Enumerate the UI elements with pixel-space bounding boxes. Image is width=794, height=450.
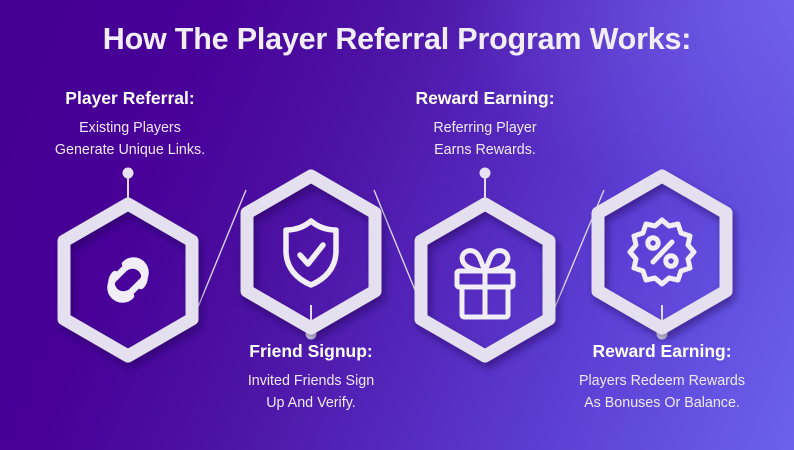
- step-3-hexagon[interactable]: [409, 196, 561, 364]
- step-2-label: Friend Signup: Invited Friends Sign Up A…: [176, 341, 446, 414]
- step-3-label: Reward Earning: Referring Player Earns R…: [350, 88, 620, 161]
- step-1-label: Player Referral: Existing Players Genera…: [0, 88, 265, 161]
- step-4-hexagon[interactable]: [586, 168, 738, 336]
- step-2-heading: Friend Signup:: [176, 341, 446, 361]
- step-1-body-line-2: Generate Unique Links.: [0, 139, 265, 161]
- step-2-body-line-1: Invited Friends Sign: [176, 370, 446, 392]
- step-2-hexagon[interactable]: [235, 168, 387, 336]
- step-1-heading: Player Referral:: [0, 88, 265, 108]
- gift-icon: [457, 251, 513, 317]
- step-1-body-line-1: Existing Players: [0, 117, 265, 139]
- step-3-heading: Reward Earning:: [350, 88, 620, 108]
- step-2-body: Invited Friends Sign Up And Verify.: [176, 370, 446, 414]
- referral-program-infographic: How The Player Referral Program Works:: [0, 0, 794, 450]
- step-1-body: Existing Players Generate Unique Links.: [0, 117, 265, 161]
- step-4-body-line-1: Players Redeem Rewards: [527, 370, 794, 392]
- page-title: How The Player Referral Program Works:: [0, 22, 794, 57]
- step-4-label: Reward Earning: Players Redeem Rewards A…: [527, 341, 794, 414]
- link-icon: [110, 260, 145, 299]
- step-4-heading: Reward Earning:: [527, 341, 794, 361]
- step-4-body-line-2: As Bonuses Or Balance.: [527, 392, 794, 414]
- step-1-hexagon[interactable]: [52, 196, 204, 364]
- shield-check-icon: [286, 221, 336, 285]
- step-3-body-line-2: Earns Rewards.: [350, 139, 620, 161]
- step-3-body-line-1: Referring Player: [350, 117, 620, 139]
- percent-badge-icon: [630, 220, 694, 284]
- step-4-body: Players Redeem Rewards As Bonuses Or Bal…: [527, 370, 794, 414]
- step-3-body: Referring Player Earns Rewards.: [350, 117, 620, 161]
- step-2-body-line-2: Up And Verify.: [176, 392, 446, 414]
